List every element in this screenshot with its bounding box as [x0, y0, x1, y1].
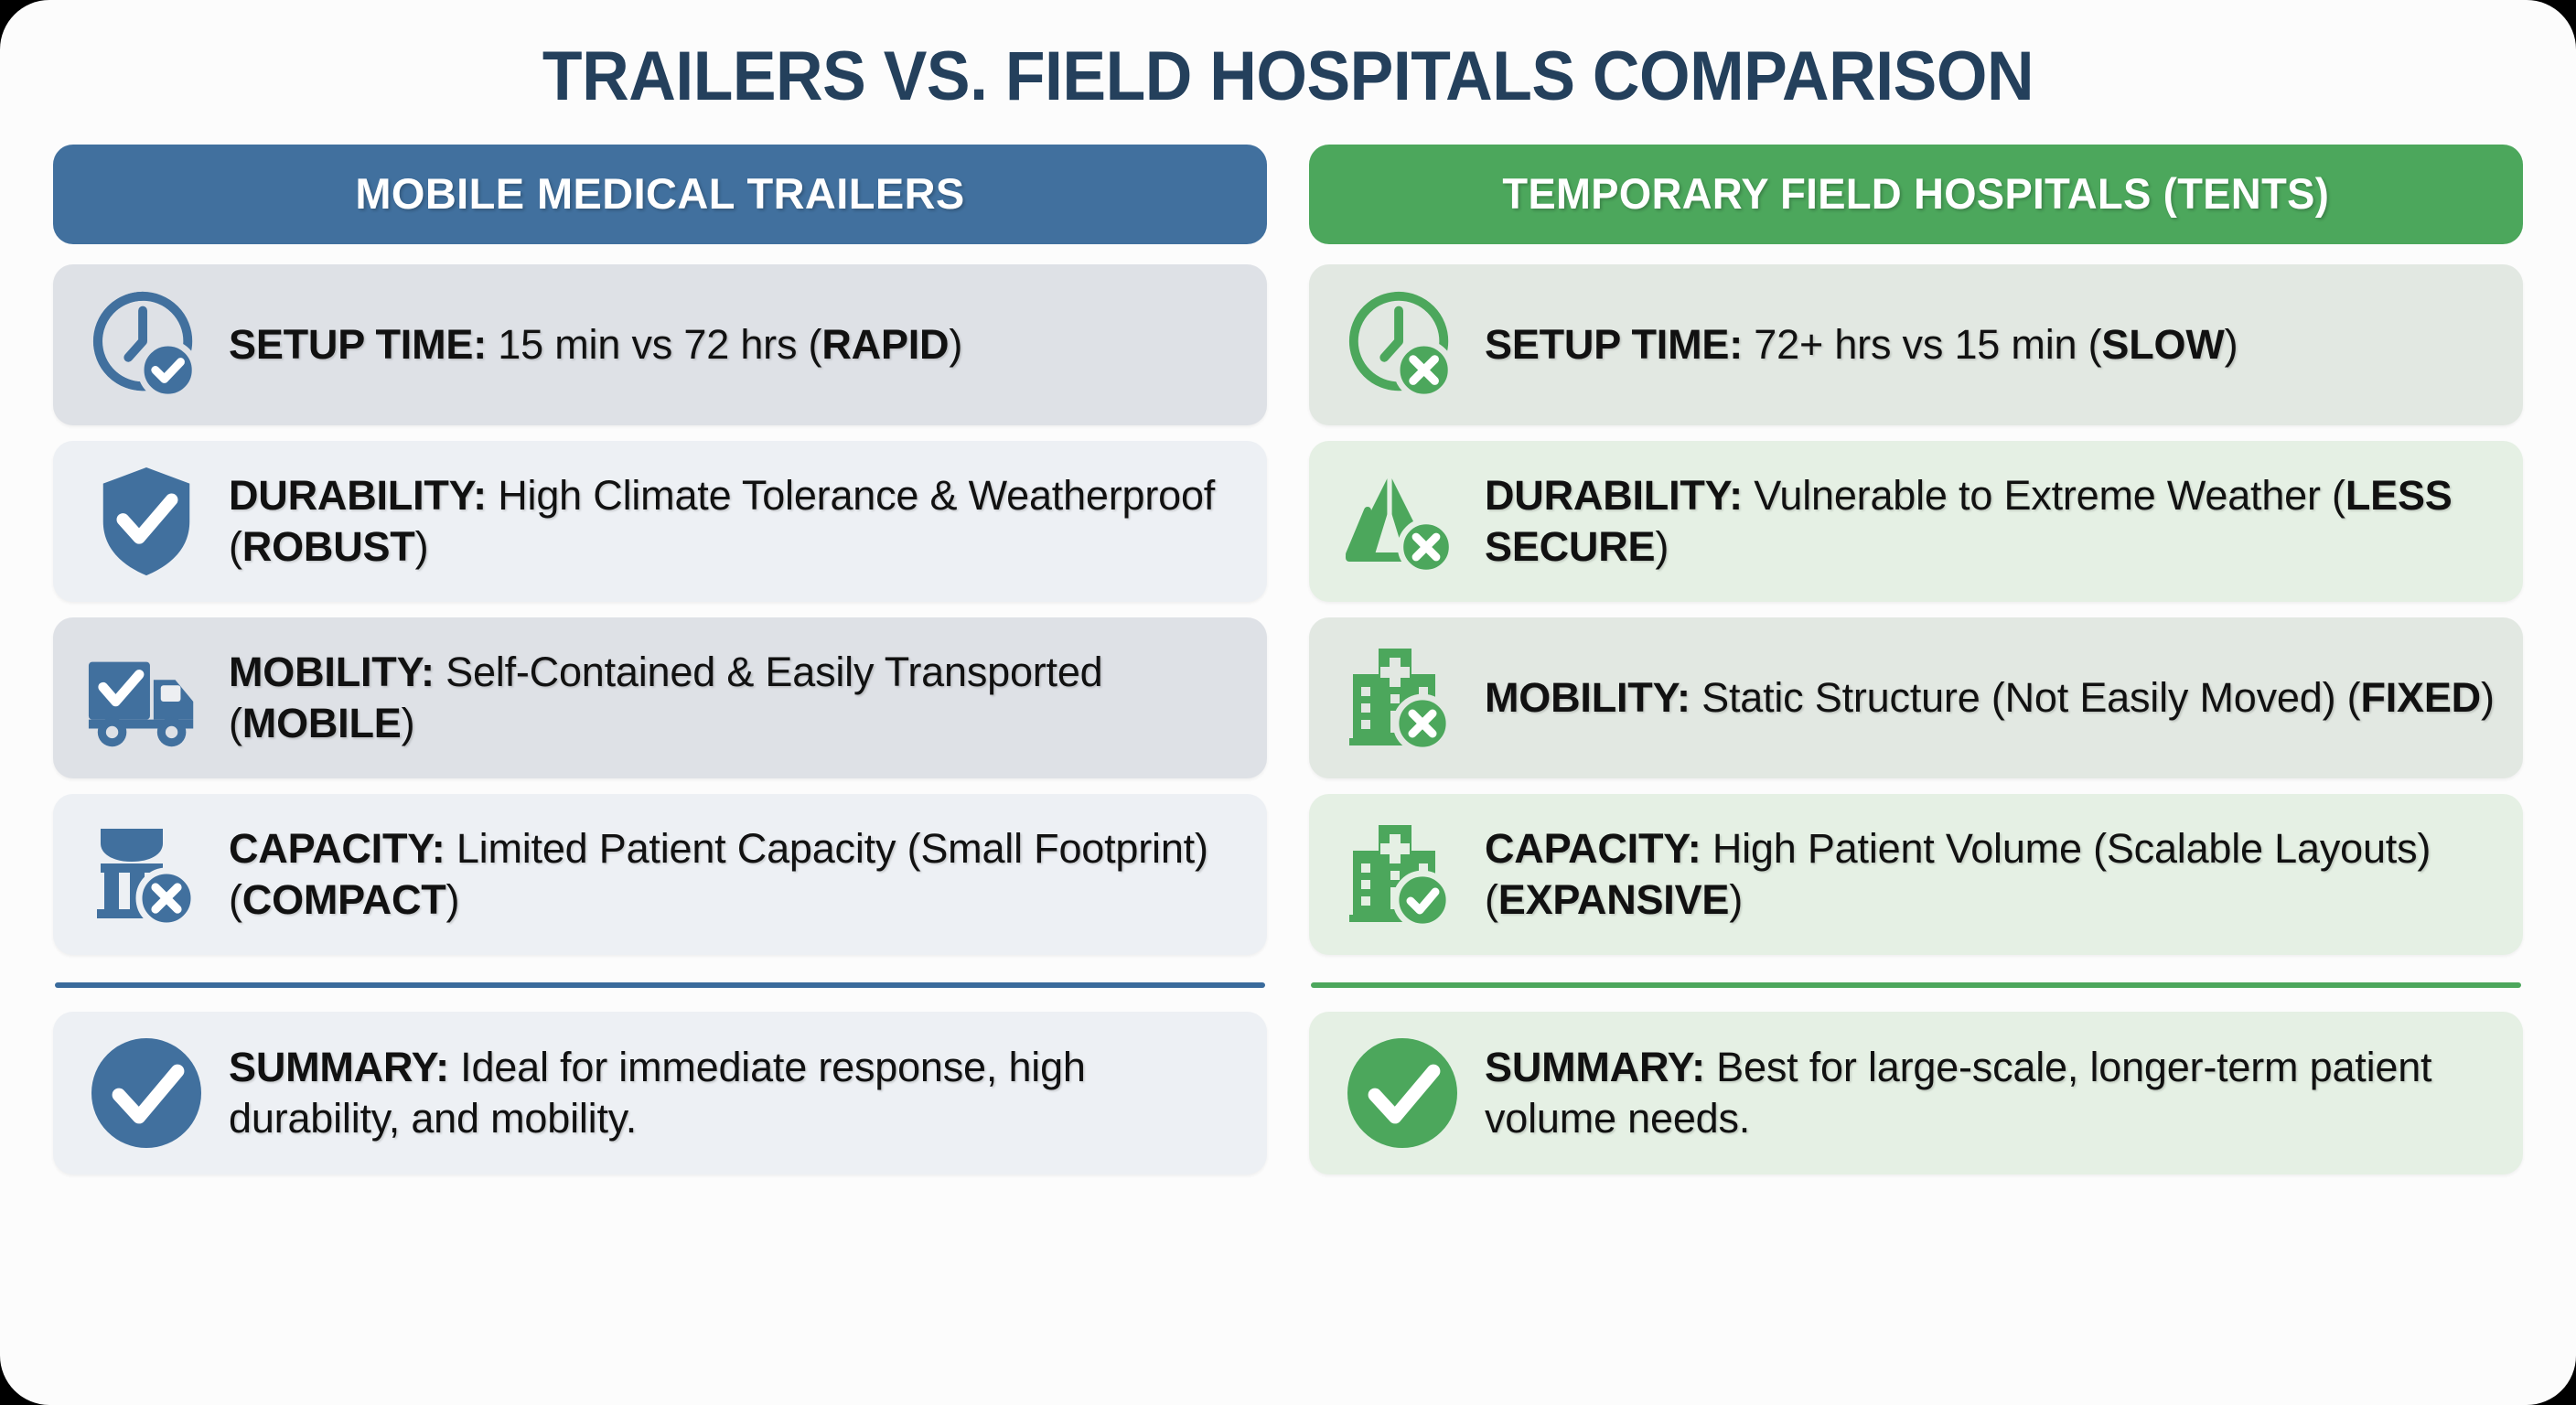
row-hospitals-capacity[interactable]: CAPACITY: High Patient Volume (Scalable …	[1309, 794, 2523, 955]
row-suffix: )	[446, 876, 460, 923]
row-value: 15 min vs 72 hrs (	[487, 321, 821, 368]
row-text: SETUP TIME: 72+ hrs vs 15 min (SLOW)	[1485, 319, 2499, 370]
row-trailers-summary[interactable]: SUMMARY: Ideal for immediate response, h…	[53, 1012, 1267, 1174]
column-header-field-hospitals: TEMPORARY FIELD HOSPITALS (TENTS)	[1309, 145, 2523, 244]
rows-trailers: SETUP TIME: 15 min vs 72 hrs (RAPID) DUR…	[53, 264, 1267, 1174]
row-value: Static Structure (Not Easily Moved) (	[1690, 674, 2361, 721]
row-suffix: )	[415, 523, 429, 570]
row-text: SETUP TIME: 15 min vs 72 hrs (RAPID)	[229, 319, 1243, 370]
row-text: MOBILITY: Static Structure (Not Easily M…	[1485, 672, 2499, 724]
row-text: MOBILITY: Self-Contained & Easily Transp…	[229, 647, 1243, 749]
row-verdict: EXPANSIVE	[1498, 876, 1729, 923]
column-header-trailers-label: MOBILE MEDICAL TRAILERS	[355, 169, 964, 218]
row-verdict: FIXED	[2360, 674, 2481, 721]
truck-check-icon	[77, 638, 216, 758]
row-verdict: MOBILE	[242, 700, 402, 746]
column-header-trailers: MOBILE MEDICAL TRAILERS	[53, 145, 1267, 244]
infographic-page: TRAILERS VS. FIELD HOSPITALS COMPARISON …	[0, 0, 2576, 1405]
row-hospitals-summary[interactable]: SUMMARY: Best for large-scale, longer-te…	[1309, 1012, 2523, 1174]
row-text: CAPACITY: Limited Patient Capacity (Smal…	[229, 823, 1243, 926]
summary-divider-trailers	[55, 982, 1265, 988]
row-value: Vulnerable to Extreme Weather (	[1743, 472, 2345, 519]
row-label: CAPACITY:	[229, 825, 445, 872]
row-suffix: )	[1729, 876, 1743, 923]
row-hospitals-durability[interactable]: DURABILITY: Vulnerable to Extreme Weathe…	[1309, 441, 2523, 602]
row-text: SUMMARY: Best for large-scale, longer-te…	[1485, 1042, 2499, 1144]
row-trailers-setup-time[interactable]: SETUP TIME: 15 min vs 72 hrs (RAPID)	[53, 264, 1267, 425]
row-verdict: ROBUST	[242, 523, 415, 570]
row-hospitals-mobility[interactable]: MOBILITY: Static Structure (Not Easily M…	[1309, 617, 2523, 778]
circle-check-icon	[77, 1033, 216, 1153]
row-suffix: )	[1655, 523, 1669, 570]
tent-x-icon	[1333, 461, 1472, 582]
circle-check-icon	[1333, 1033, 1472, 1153]
row-label: CAPACITY:	[1485, 825, 1701, 872]
row-text: DURABILITY: Vulnerable to Extreme Weathe…	[1485, 470, 2499, 573]
row-label: MOBILITY:	[229, 649, 435, 695]
hospital-x-icon	[1333, 638, 1472, 758]
row-suffix: )	[402, 700, 415, 746]
column-header-field-hospitals-label: TEMPORARY FIELD HOSPITALS (TENTS)	[1503, 168, 2330, 219]
row-value: 72+ hrs vs 15 min (	[1743, 321, 2101, 368]
row-suffix: )	[2481, 674, 2495, 721]
row-hospitals-setup-time[interactable]: SETUP TIME: 72+ hrs vs 15 min (SLOW)	[1309, 264, 2523, 425]
row-label: SETUP TIME:	[1485, 321, 1743, 368]
row-text: DURABILITY: High Climate Tolerance & Wea…	[229, 470, 1243, 573]
column-mobile-medical-trailers: MOBILE MEDICAL TRAILERS	[53, 145, 1267, 1174]
hospital-check-icon	[1333, 814, 1472, 935]
row-suffix: )	[2225, 321, 2238, 368]
rows-field-hospitals: SETUP TIME: 72+ hrs vs 15 min (SLOW)	[1309, 264, 2523, 1174]
row-label: DURABILITY:	[229, 472, 487, 519]
row-text: CAPACITY: High Patient Volume (Scalable …	[1485, 823, 2499, 926]
clock-check-icon	[77, 284, 216, 405]
row-text: SUMMARY: Ideal for immediate response, h…	[229, 1042, 1243, 1144]
row-label: MOBILITY:	[1485, 674, 1690, 721]
page-title: TRAILERS VS. FIELD HOSPITALS COMPARISON	[127, 0, 2449, 145]
row-trailers-mobility[interactable]: MOBILITY: Self-Contained & Easily Transp…	[53, 617, 1267, 778]
clinic-x-icon	[77, 814, 216, 935]
column-temporary-field-hospitals: TEMPORARY FIELD HOSPITALS (TENTS) S	[1309, 145, 2523, 1174]
summary-label: SUMMARY:	[229, 1044, 449, 1090]
row-trailers-durability[interactable]: DURABILITY: High Climate Tolerance & Wea…	[53, 441, 1267, 602]
row-verdict: SLOW	[2101, 321, 2224, 368]
summary-divider-hospitals	[1311, 982, 2521, 988]
row-verdict: COMPACT	[242, 876, 446, 923]
summary-label: SUMMARY:	[1485, 1044, 1705, 1090]
clock-x-icon	[1333, 284, 1472, 405]
row-verdict: RAPID	[821, 321, 949, 368]
comparison-columns: MOBILE MEDICAL TRAILERS	[53, 145, 2523, 1174]
row-suffix: )	[949, 321, 962, 368]
row-label: DURABILITY:	[1485, 472, 1743, 519]
row-label: SETUP TIME:	[229, 321, 487, 368]
shield-check-icon	[77, 461, 216, 582]
row-trailers-capacity[interactable]: CAPACITY: Limited Patient Capacity (Smal…	[53, 794, 1267, 955]
